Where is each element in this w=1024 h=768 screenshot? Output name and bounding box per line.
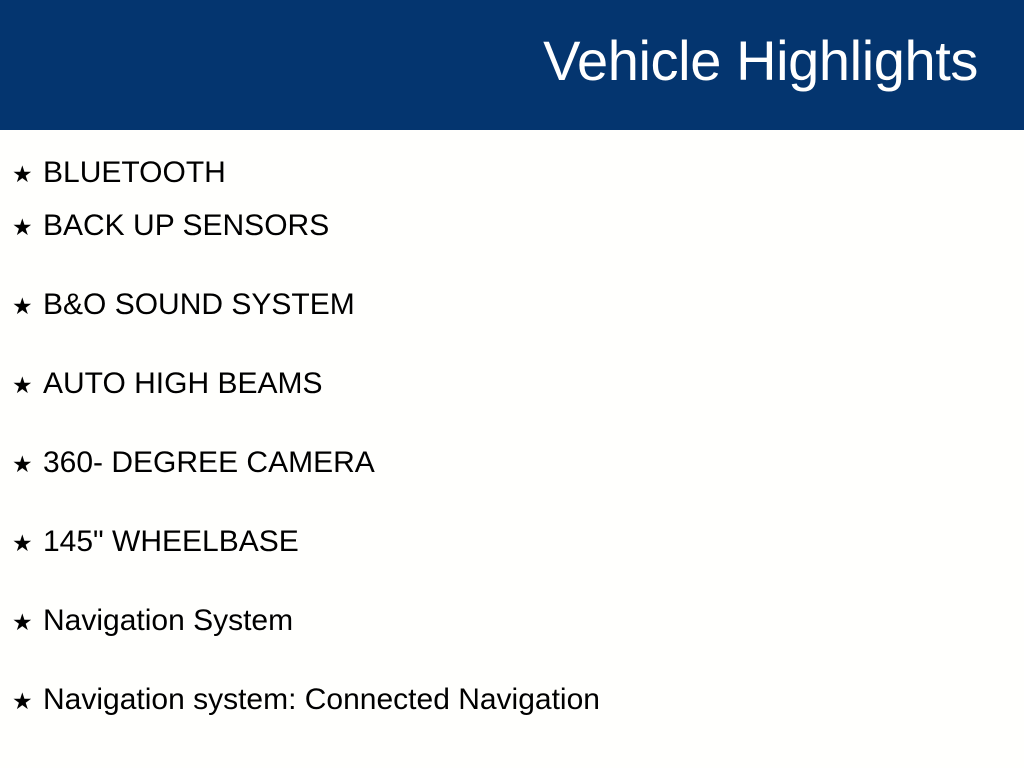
vehicle-highlights-slide: Vehicle Highlights ★ BLUETOOTH ★ BACK UP… [0,0,1024,768]
list-item: ★ Navigation System [0,604,1024,683]
header-bar: Vehicle Highlights [0,0,1024,130]
list-item-label: BACK UP SENSORS [43,209,1024,243]
list-item: ★ 145" WHEELBASE [0,525,1024,604]
star-icon: ★ [12,454,43,477]
star-icon: ★ [12,691,43,714]
list-item-label: Navigation System [43,604,1024,638]
list-item-label: BLUETOOTH [43,156,1024,190]
list-item: ★ BLUETOOTH [0,130,1024,209]
star-icon: ★ [12,164,43,187]
list-item: ★ 360- DEGREE CAMERA [0,446,1024,525]
list-item-label: B&O SOUND SYSTEM [43,288,1024,322]
star-icon: ★ [12,296,43,319]
list-item-label: Navigation system: Connected Navigation [43,683,1024,717]
list-item-label: AUTO HIGH BEAMS [43,367,1024,401]
star-icon: ★ [12,533,43,556]
list-item: ★ AUTO HIGH BEAMS [0,367,1024,446]
vehicle-highlights-list: ★ BLUETOOTH ★ BACK UP SENSORS ★ B&O SOUN… [0,130,1024,762]
list-item-label: 360- DEGREE CAMERA [43,446,1024,480]
list-item: ★ B&O SOUND SYSTEM [0,288,1024,367]
list-item: ★ BACK UP SENSORS [0,209,1024,288]
star-icon: ★ [12,217,43,240]
page-title: Vehicle Highlights [543,28,978,94]
list-item-label: 145" WHEELBASE [43,525,1024,559]
star-icon: ★ [12,612,43,635]
list-item: ★ Navigation system: Connected Navigatio… [0,683,1024,762]
star-icon: ★ [12,375,43,398]
